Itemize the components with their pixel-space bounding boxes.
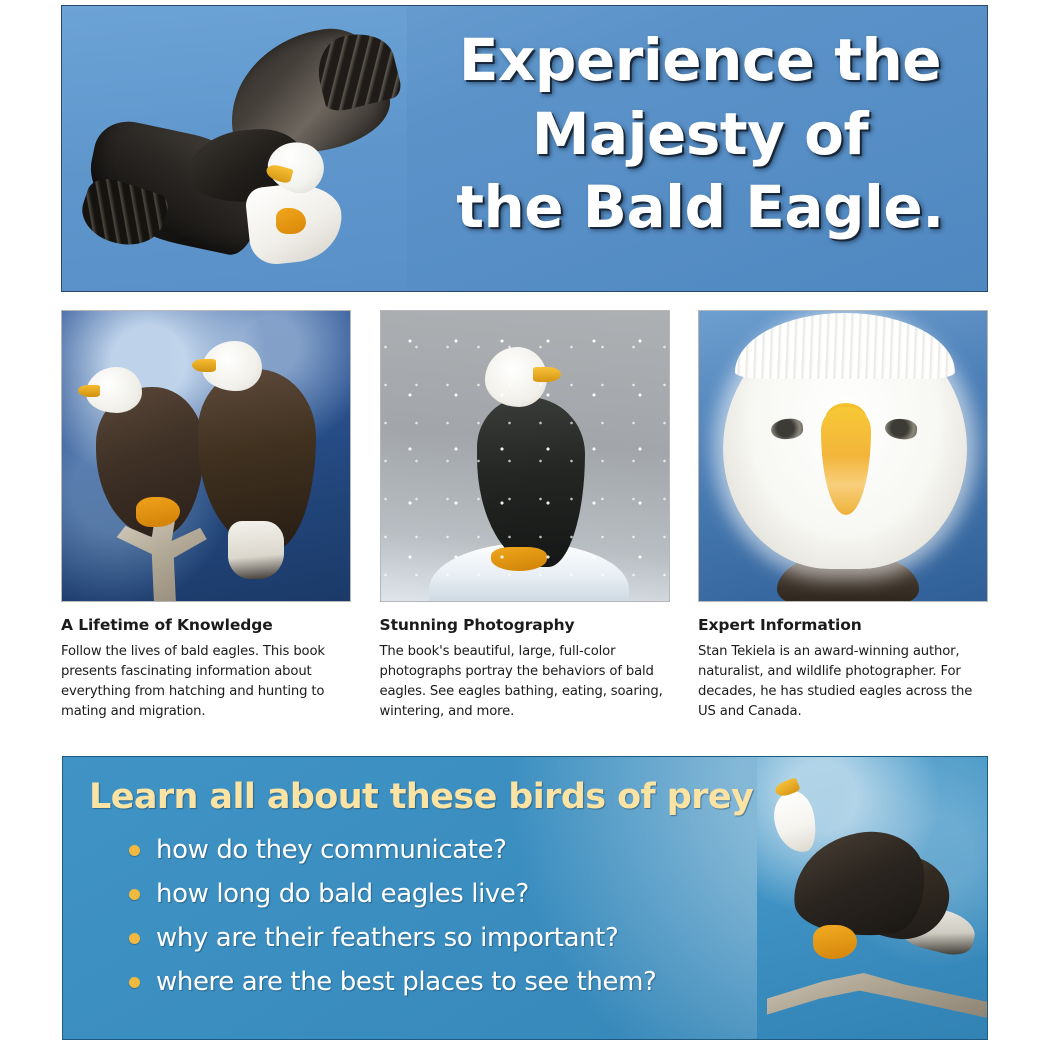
list-item: how long do bald eagles live? (129, 879, 656, 909)
hero-title-line-1: Experience the (424, 24, 976, 98)
list-item-label: where are the best places to see them? (156, 967, 656, 997)
bullet-icon (129, 889, 140, 900)
right-eagle-tail (228, 521, 284, 579)
feature-photo-two-eagles (61, 310, 351, 602)
feature-body: Stan Tekiela is an award-winning author,… (698, 642, 988, 722)
list-item: where are the best places to see them? (129, 967, 656, 997)
hero-title-line-2: Majesty of (424, 98, 976, 172)
hero-eagle-photo (62, 6, 407, 292)
eagle-talons (276, 208, 306, 234)
list-item: why are their feathers so important? (129, 923, 656, 953)
feature-body: Follow the lives of bald eagles. This bo… (61, 642, 351, 722)
cta-panel: Learn all about these birds of prey how … (62, 756, 988, 1040)
bullet-icon (129, 977, 140, 988)
bullet-icon (129, 845, 140, 856)
falling-snow-overlay (381, 311, 669, 601)
right-eagle-beak (192, 359, 216, 372)
bullet-icon (129, 933, 140, 944)
feature-column-expert: Expert Information Stan Tekiela is an aw… (698, 310, 988, 722)
feature-column-photography: Stunning Photography The book's beautifu… (380, 310, 670, 722)
promotional-page: Experience the Majesty of the Bald Eagle… (0, 0, 1050, 1050)
feature-body: The book's beautiful, large, full-color … (380, 642, 670, 722)
list-item: how do they communicate? (129, 835, 656, 865)
feature-photo-eagle-face (698, 310, 988, 602)
list-item-label: how do they communicate? (156, 835, 507, 865)
cta-heading: Learn all about these birds of prey (89, 777, 753, 817)
cta-eagle-photo (757, 757, 987, 1040)
list-item-label: why are their feathers so important? (156, 923, 618, 953)
feature-title: Expert Information (698, 616, 988, 634)
left-eagle-beak (78, 385, 100, 397)
list-item-label: how long do bald eagles live? (156, 879, 529, 909)
hero-title: Experience the Majesty of the Bald Eagle… (424, 24, 976, 245)
hero-banner: Experience the Majesty of the Bald Eagle… (61, 5, 988, 292)
feature-column-knowledge: A Lifetime of Knowledge Follow the lives… (61, 310, 351, 722)
hero-title-line-3: the Bald Eagle. (424, 171, 976, 245)
flying-eagle-illustration (80, 24, 390, 279)
feature-photo-eagle-in-snow (380, 310, 670, 602)
feature-columns: A Lifetime of Knowledge Follow the lives… (61, 310, 988, 722)
feature-title: A Lifetime of Knowledge (61, 616, 351, 634)
cta-question-list: how do they communicate? how long do bal… (129, 835, 656, 1011)
feature-title: Stunning Photography (380, 616, 670, 634)
